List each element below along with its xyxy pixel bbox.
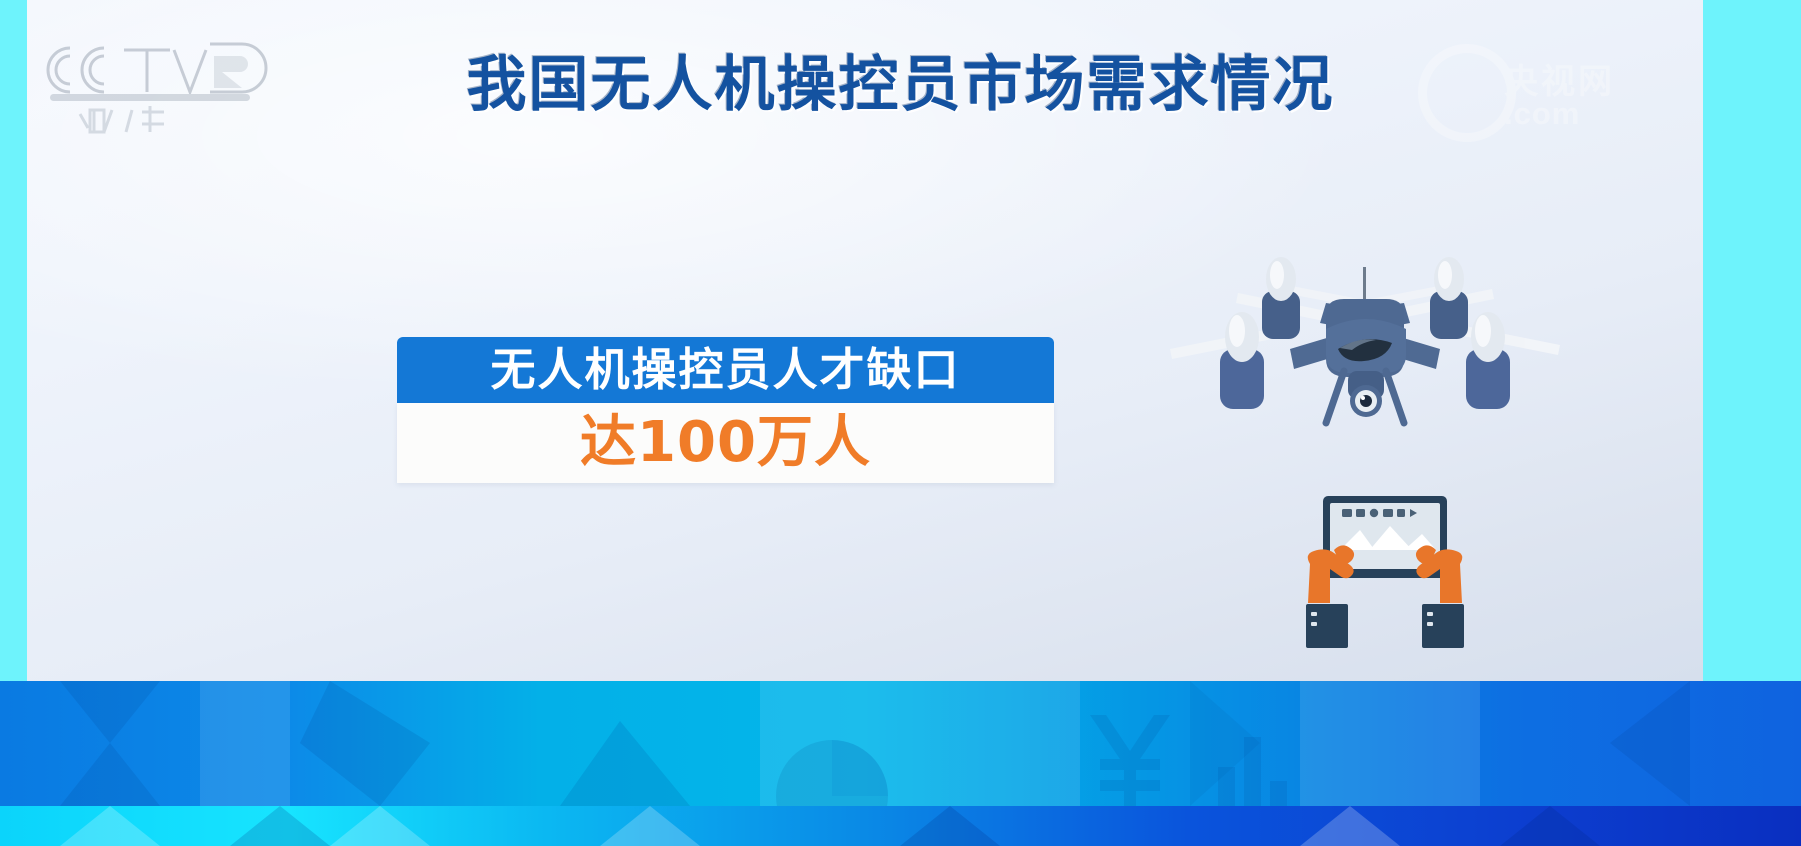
- statistic-callout: 无人机操控员人才缺口 达100万人: [397, 337, 1054, 483]
- bottom-banner: [0, 681, 1801, 846]
- callout-value-label: 达100万人: [397, 403, 1054, 483]
- hands-holding-tablet-icon: [1290, 492, 1480, 652]
- yen-symbol-icon: [1090, 715, 1170, 816]
- quadcopter-drone-icon: [1130, 245, 1600, 445]
- page-title: 我国无人机操控员市场需求情况: [0, 36, 1801, 123]
- banner-bottom-strip: [0, 806, 1801, 846]
- broadcast-screen: 我国无人机操控员市场需求情况 央视网 .com 无人机操控员人才缺口 达100万…: [0, 0, 1801, 846]
- callout-header-label: 无人机操控员人才缺口: [397, 337, 1054, 403]
